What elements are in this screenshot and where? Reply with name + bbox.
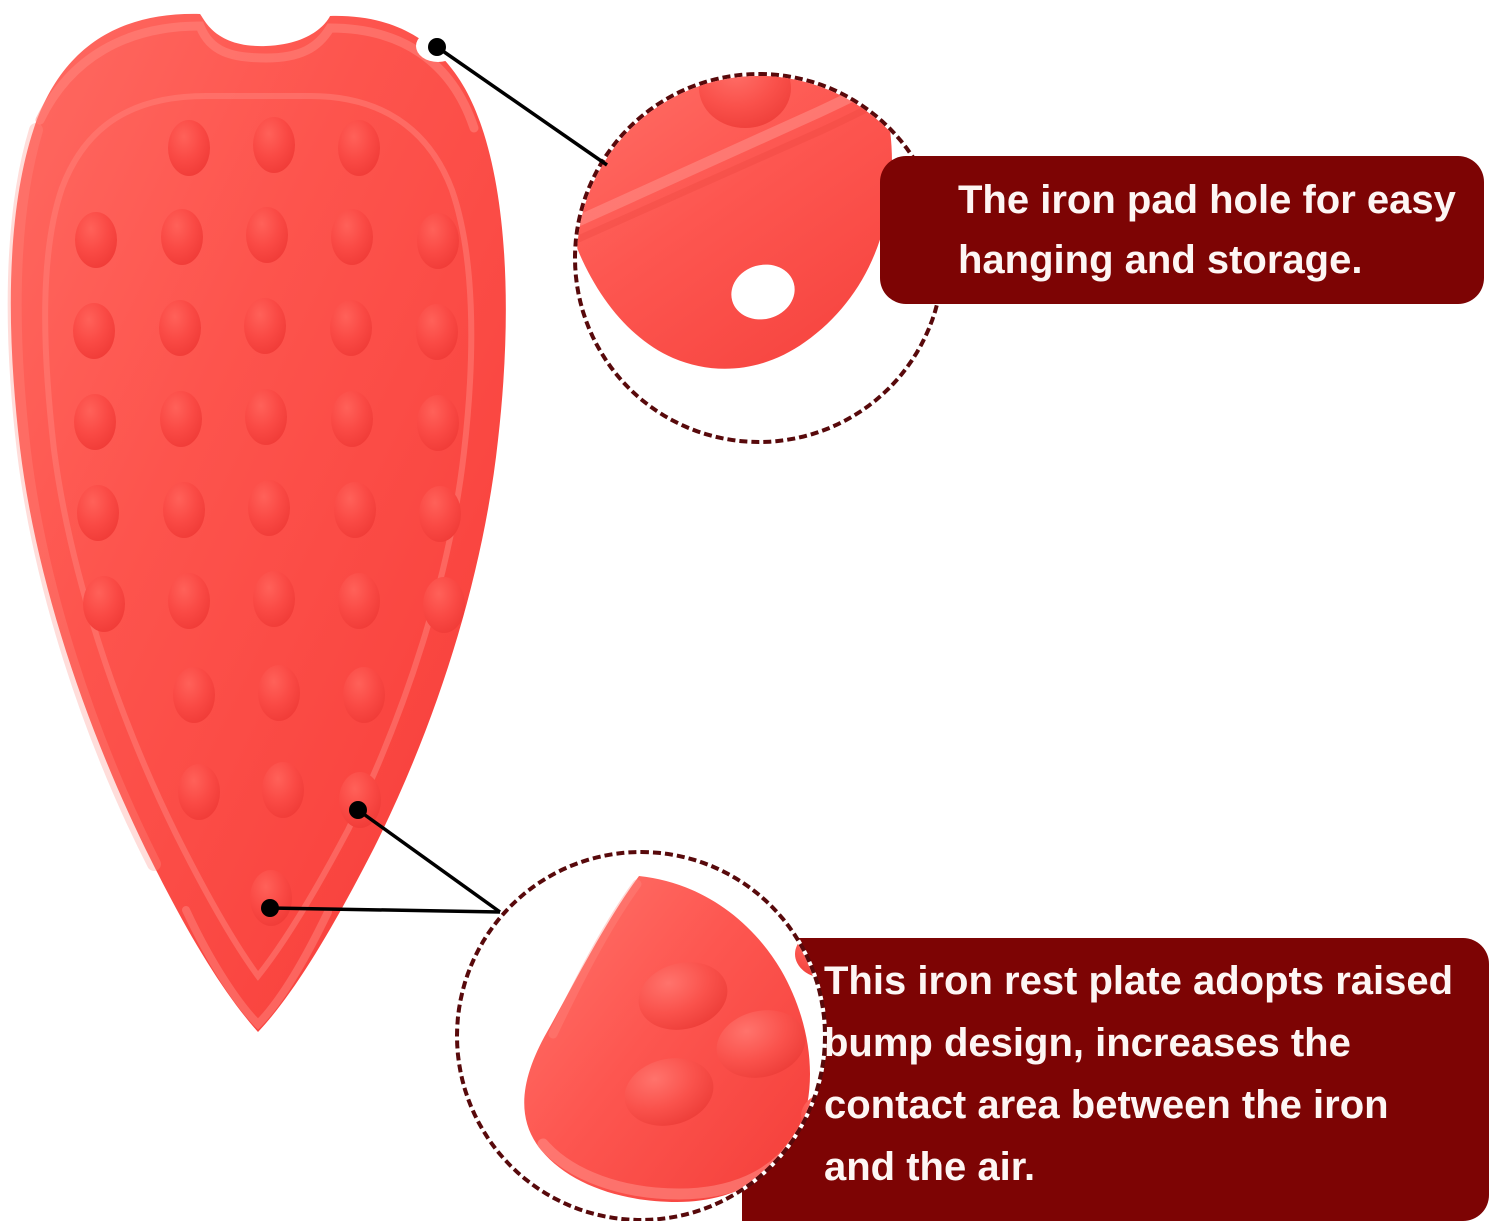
bump	[343, 667, 385, 723]
bump	[74, 394, 116, 450]
bump	[417, 395, 459, 451]
bump	[244, 298, 286, 354]
bump	[253, 117, 295, 173]
bump	[160, 391, 202, 447]
bump	[159, 300, 201, 356]
bump	[339, 772, 381, 828]
bump	[417, 213, 459, 269]
bump	[168, 120, 210, 176]
bump	[338, 120, 380, 176]
bump	[416, 304, 458, 360]
callout-raised-bump-design: This iron rest plate adopts raised bump …	[742, 938, 1489, 1221]
bump	[168, 573, 210, 629]
detail-clip-bottom	[459, 854, 823, 1218]
callout-raised-bump-design-text: This iron rest plate adopts raised bump …	[824, 950, 1467, 1198]
bump	[73, 303, 115, 359]
hanging-hole	[416, 30, 460, 62]
closeup-bump-partial	[795, 930, 823, 978]
bump	[250, 870, 292, 926]
bump	[423, 577, 465, 633]
bump	[338, 573, 380, 629]
bump	[83, 576, 125, 632]
bump-row	[173, 665, 385, 723]
callout-hanging-hole-text: The iron pad hole for easy hanging and s…	[958, 170, 1462, 290]
bump	[330, 300, 372, 356]
bump	[77, 485, 119, 541]
bump	[253, 571, 295, 627]
detail-circle-raised-bumps	[455, 850, 827, 1221]
bump-row	[250, 870, 292, 926]
bump	[258, 665, 300, 721]
bump	[331, 209, 373, 265]
callout-hanging-hole: The iron pad hole for easy hanging and s…	[880, 156, 1484, 304]
bump	[262, 762, 304, 818]
bump	[75, 212, 117, 268]
bump	[173, 667, 215, 723]
bump	[246, 207, 288, 263]
bump	[161, 209, 203, 265]
bump	[245, 389, 287, 445]
bump	[178, 764, 220, 820]
bump	[248, 480, 290, 536]
bump	[331, 391, 373, 447]
product-infographic: The iron pad hole for easy hanging and s…	[0, 0, 1489, 1221]
bump	[334, 482, 376, 538]
bump	[163, 482, 205, 538]
bump	[419, 486, 461, 542]
bump-row	[168, 117, 380, 176]
raised-bumps-closeup	[459, 854, 823, 1218]
